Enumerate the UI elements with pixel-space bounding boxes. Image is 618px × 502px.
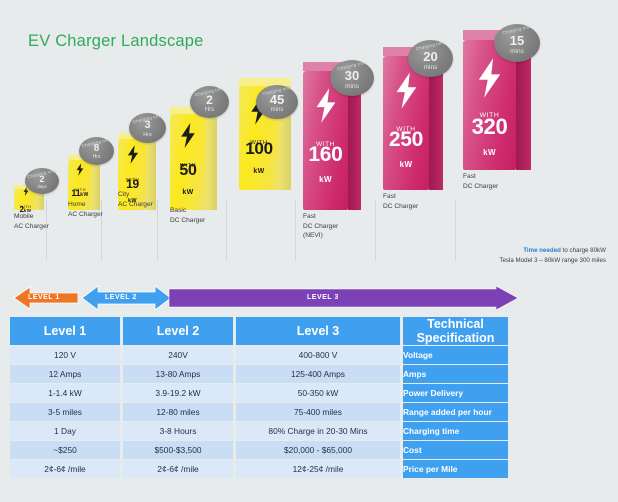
- bar-basic-dc-charger[interactable]: WITH 50 kW: [170, 107, 217, 210]
- charging-time-value: 20: [423, 50, 437, 63]
- bar-side-face: [206, 114, 217, 210]
- bolt-icon: [118, 145, 147, 164]
- level-3-arrow: [169, 286, 518, 310]
- cell-level3: $20,000 - $65,000: [236, 441, 400, 459]
- column-separator: [295, 200, 296, 260]
- bar-unit: kW: [80, 192, 88, 198]
- header-level-1: Level 1: [10, 317, 120, 345]
- table-row: 12 Amps 13-80 Amps 125-400 Amps Amps: [10, 365, 508, 383]
- bar-caption: Mobile AC Charger: [14, 212, 49, 231]
- footnote-line2: Tesla Model 3 – 80kW range 300 miles: [499, 256, 606, 266]
- cell-level1: ~$250: [10, 441, 120, 459]
- charging-time-value: 3: [144, 120, 150, 131]
- charging-time-value: 2: [206, 94, 213, 106]
- bolt-icon: [383, 72, 429, 109]
- column-separator: [226, 200, 227, 260]
- column-separator: [455, 200, 456, 260]
- charging-time-value: 30: [345, 69, 359, 82]
- bar-unit: kW: [182, 189, 193, 196]
- bar-unit: kW: [253, 168, 264, 175]
- chart-footnote: Time needed to charge 80kW Tesla Model 3…: [499, 246, 606, 265]
- bar-value: 11: [71, 188, 80, 198]
- bar-value: 320: [472, 114, 508, 139]
- cell-spec: Charging time: [403, 422, 508, 440]
- table-row: 2¢-6¢ /mile 2¢-6¢ /mile 12¢-25¢ /mile Pr…: [10, 460, 508, 478]
- level-3-label: LEVEL 3: [307, 294, 339, 301]
- bolt-icon: [68, 163, 92, 176]
- table-row: 120 V 240V 400-800 V Voltage: [10, 346, 508, 364]
- cell-spec: Amps: [403, 365, 508, 383]
- cell-spec: Cost: [403, 441, 508, 459]
- bolt-icon: [170, 123, 206, 148]
- bar-caption: Basic DC Charger: [170, 206, 205, 225]
- charging-time-unit: mins: [424, 63, 438, 73]
- cell-level1: 3-5 miles: [10, 403, 120, 421]
- bar-chart: WITH 2kW Charging time 2 days Mobile AC …: [0, 0, 618, 270]
- cell-spec: Power Delivery: [403, 384, 508, 402]
- charging-time-value: 8: [94, 144, 100, 154]
- charging-time-unit: mins: [271, 106, 284, 115]
- charging-time-unit: days: [37, 184, 47, 191]
- cell-level1: 120 V: [10, 346, 120, 364]
- cell-level3: 75-400 miles: [236, 403, 400, 421]
- cell-level2: 12-80 miles: [123, 403, 233, 421]
- charging-time-badge[interactable]: Charging time 20 mins: [408, 40, 453, 77]
- cell-level1: 2¢-6¢ /mile: [10, 460, 120, 478]
- infographic-canvas: EV Charger Landscape WITH 2kW Chargin: [0, 0, 618, 502]
- cell-spec: Range added per hour: [403, 403, 508, 421]
- table-row: 1-1.4 kW 3.9-19.2 kW 50-350 kW Power Del…: [10, 384, 508, 402]
- bar-caption: Fast DC Charger: [383, 192, 418, 211]
- cell-level2: $500-$3,500: [123, 441, 233, 459]
- cell-level1: 1 Day: [10, 422, 120, 440]
- cell-level2: 2¢-6¢ /mile: [123, 460, 233, 478]
- footnote-bold: Time needed: [523, 247, 561, 254]
- level-arrow-bar: LEVEL 1 LEVEL 2 LEVEL 3: [0, 284, 618, 312]
- bar-unit: kW: [400, 160, 413, 169]
- footnote-rest: to charge 80kW: [561, 247, 606, 254]
- bar-value: 19: [126, 177, 139, 191]
- bar-unit: kW: [483, 148, 496, 157]
- charging-time-unit: mins: [345, 82, 359, 92]
- cell-level3: 125-400 Amps: [236, 365, 400, 383]
- table-header-row: Level 1 Level 2 Level 3 Technical Specif…: [10, 317, 508, 345]
- charging-time-unit: Hrs: [205, 106, 214, 115]
- charging-time-badge[interactable]: Charging time 30 mins: [330, 60, 374, 96]
- header-level-3: Level 3: [236, 317, 400, 345]
- table-row: 1 Day 3-8 Hours 80% Charge in 20-30 Mins…: [10, 422, 508, 440]
- charging-time-badge[interactable]: Charging time 45 mins: [256, 85, 298, 119]
- level-2-label: LEVEL 2: [105, 294, 137, 301]
- table-row: ~$250 $500-$3,500 $20,000 - $65,000 Cost: [10, 441, 508, 459]
- table-row: 3-5 miles 12-80 miles 75-400 miles Range…: [10, 403, 508, 421]
- bar-caption: City AC Charger: [118, 190, 153, 209]
- bar-caption: Fast DC Charger (NEVI): [303, 212, 338, 241]
- header-technical-specification: Technical Specification: [403, 317, 508, 345]
- cell-spec: Price per Mile: [403, 460, 508, 478]
- column-separator: [375, 200, 376, 260]
- bar-unit: kW: [319, 175, 332, 184]
- cell-level2: 3-8 Hours: [123, 422, 233, 440]
- charging-time-badge[interactable]: Charging time 2 days: [25, 168, 59, 194]
- specification-table: Level 1 Level 2 Level 3 Technical Specif…: [10, 316, 508, 479]
- bolt-icon: [463, 58, 516, 98]
- charging-time-unit: mins: [510, 47, 524, 57]
- charging-time-unit: Hrs: [143, 131, 152, 139]
- charging-time-value: 45: [270, 93, 284, 106]
- cell-level3: 12¢-25¢ /mile: [236, 460, 400, 478]
- level-1-label: LEVEL 1: [28, 294, 60, 301]
- bar-caption: Home AC Charger: [68, 200, 103, 219]
- charging-time-badge[interactable]: Charging time 2 Hrs: [190, 86, 229, 118]
- charging-time-badge[interactable]: Charging time 15 mins: [494, 24, 540, 62]
- charging-time-badge[interactable]: Charging time 3 Hrs: [129, 113, 166, 143]
- charging-time-badge[interactable]: Charging time 8 Hrs: [79, 137, 114, 165]
- cell-level2: 13-80 Amps: [123, 365, 233, 383]
- charging-time-unit: Hrs: [93, 154, 101, 162]
- header-level-2: Level 2: [123, 317, 233, 345]
- bar-value: 250: [389, 128, 423, 151]
- cell-level1: 12 Amps: [10, 365, 120, 383]
- cell-level3: 400-800 V: [236, 346, 400, 364]
- cell-level3: 80% Charge in 20-30 Mins: [236, 422, 400, 440]
- cell-spec: Voltage: [403, 346, 508, 364]
- bar-value: 100: [245, 139, 272, 158]
- charging-time-value: 15: [510, 34, 524, 47]
- bar-value: 50: [179, 162, 196, 179]
- cell-level1: 1-1.4 kW: [10, 384, 120, 402]
- cell-level3: 50-350 kW: [236, 384, 400, 402]
- bar-caption: Fast DC Charger: [463, 172, 498, 191]
- bar-value: 160: [308, 143, 342, 166]
- cell-level2: 240V: [123, 346, 233, 364]
- cell-level2: 3.9-19.2 kW: [123, 384, 233, 402]
- column-separator: [157, 200, 158, 260]
